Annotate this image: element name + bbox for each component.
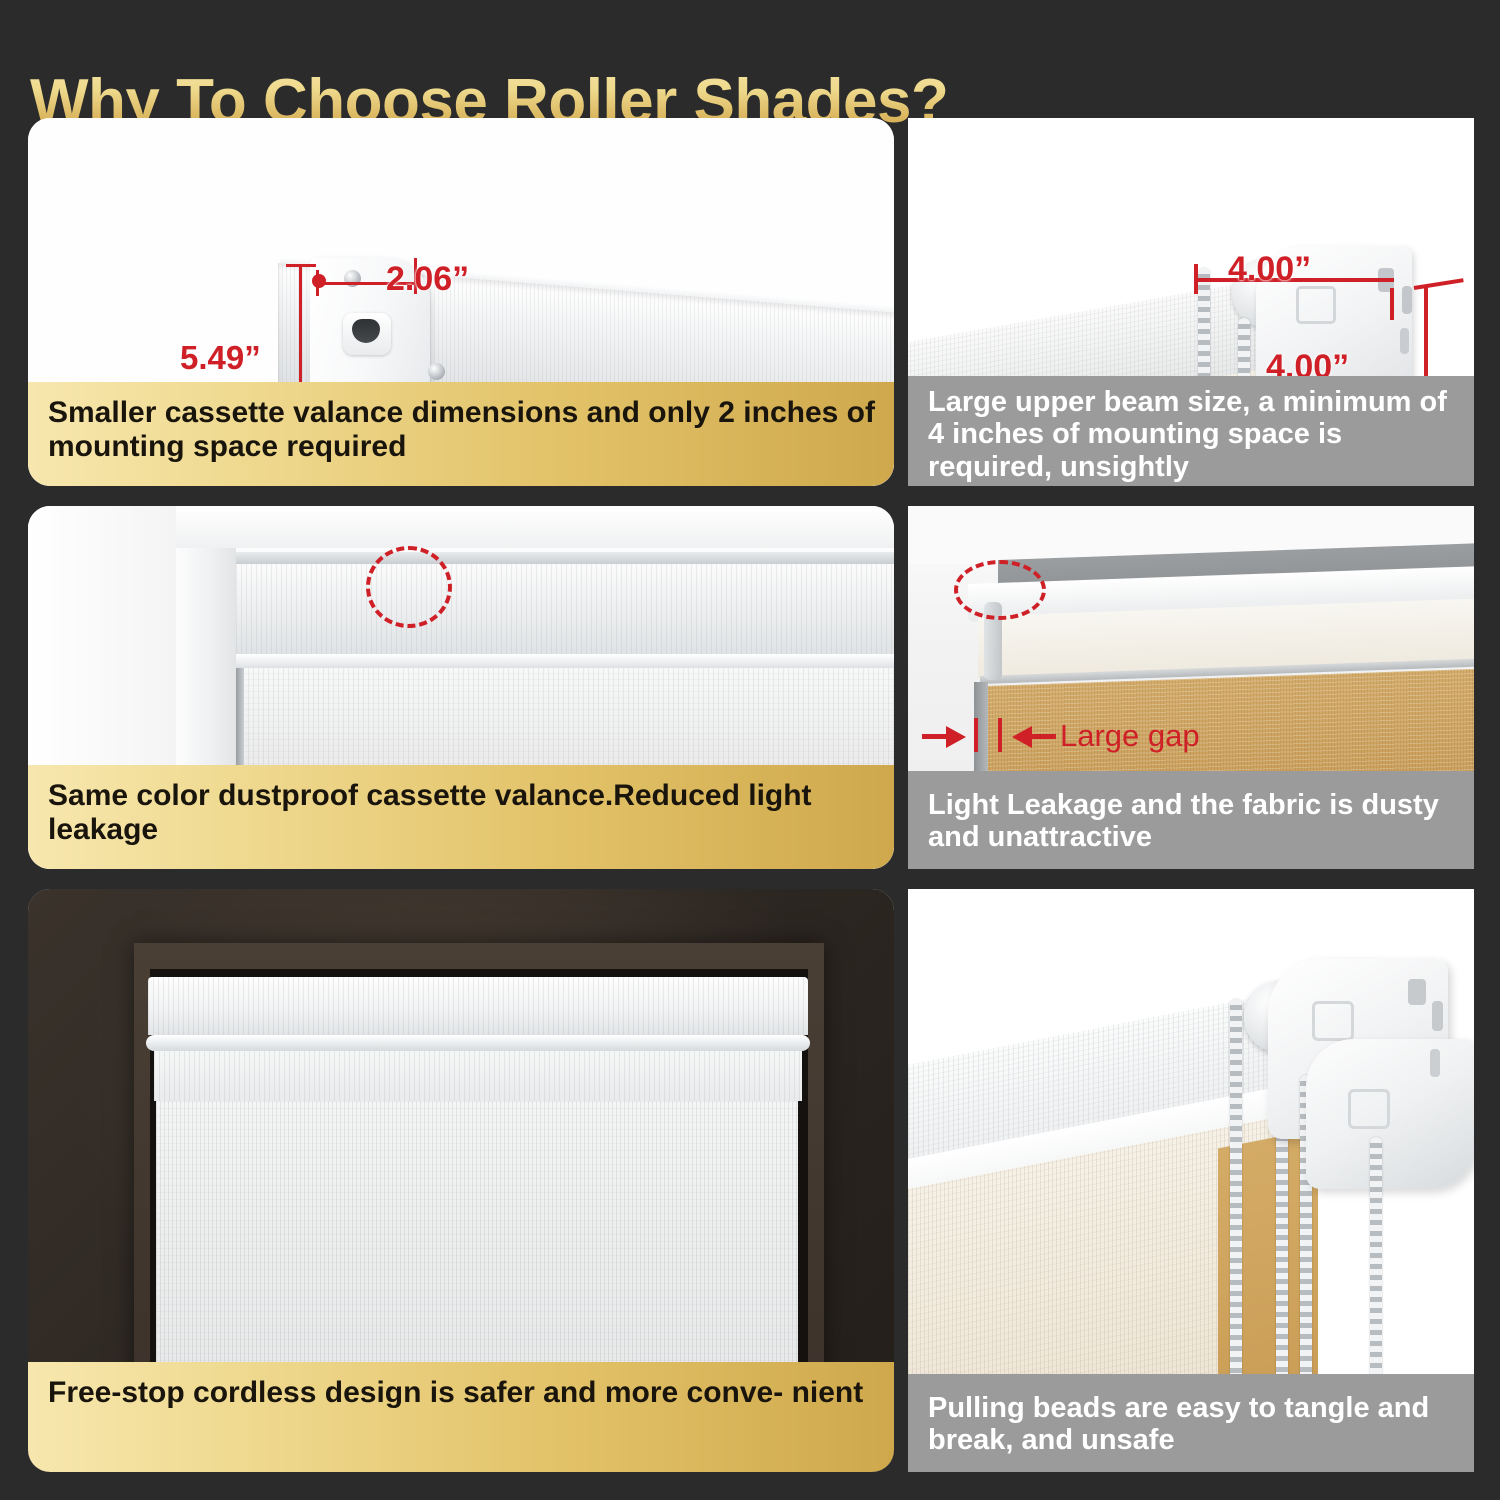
end-cap-slot [343, 313, 391, 355]
panel-light-leakage: Large gap Light Leakage and the fabric i… [908, 506, 1474, 869]
width-dimension-endpoint-dot [312, 274, 326, 288]
gap-arrow-left-tail [922, 734, 948, 739]
cassette-bottom-rail [146, 1035, 810, 1051]
panel-large-upper-beam: 4.00” 4.00” Large upper beam size, a min… [908, 118, 1474, 486]
highlight-circle-icon [954, 560, 1046, 620]
panel-2-caption: Large upper beam size, a minimum of 4 in… [908, 376, 1474, 486]
beam-width-tick-right [1390, 288, 1394, 320]
bracket-notch-3 [1430, 1049, 1440, 1077]
height-dimension-label: 5.49” [180, 339, 261, 377]
cassette-valance [148, 977, 808, 1035]
highlight-circle-icon [366, 546, 452, 628]
end-cap-screw-mid [428, 363, 445, 380]
bracket-notch-3 [1400, 328, 1409, 354]
bracket-notch-2 [1402, 286, 1412, 314]
beam-width-tick-left [1194, 264, 1198, 294]
bracket-embossed-icon [1296, 286, 1336, 324]
width-dimension-label: 2.06” [386, 260, 469, 299]
gap-arrow-right-head [1012, 726, 1032, 748]
panel-4-caption: Light Leakage and the fabric is dusty an… [908, 771, 1474, 869]
panel-3-caption: Same color dustproof cassette valance.Re… [28, 765, 894, 869]
large-gap-label: Large gap [1060, 718, 1200, 754]
panel-pulling-beads: Pulling beads are easy to tangle and bre… [908, 889, 1474, 1472]
height-dimension-tick-top [286, 264, 316, 267]
infographic-page: Why To Choose Roller Shades? Why To Choo… [0, 0, 1500, 1500]
panel-dustproof-cassette: smaller gap Same color dustproof cassett… [28, 506, 894, 869]
bracket-embossed-icon-upper [1312, 1001, 1354, 1041]
gap-arrow-left-head [946, 726, 966, 748]
cassette-valance [236, 564, 894, 654]
panel-cordless-design: Free-stop cordless design is safer and m… [28, 889, 894, 1472]
beam-width-label: 4.00” [1228, 250, 1311, 289]
window-frame-header [176, 506, 894, 548]
shade-top-edge [236, 552, 894, 564]
panel-1-caption: Smaller cassette valance dimensions and … [28, 382, 894, 486]
bracket-notch-1 [1408, 979, 1426, 1005]
valance-bottom-lip [236, 654, 894, 668]
mounting-bracket-lower [1306, 1039, 1474, 1189]
shade-fabric-upper [154, 1049, 802, 1101]
panel-5-caption: Free-stop cordless design is safer and m… [28, 1362, 894, 1472]
gap-arrow-right-tail [1030, 734, 1056, 739]
bracket-notch-2 [1432, 1001, 1443, 1031]
gap-marker-left [974, 718, 978, 752]
panel-6-caption: Pulling beads are easy to tangle and bre… [908, 1374, 1474, 1472]
gap-marker-right [998, 718, 1002, 752]
bracket-embossed-icon-lower [1348, 1089, 1390, 1129]
panel-smaller-cassette: 5.49” 2.06” Smaller cassette valance dim… [28, 118, 894, 486]
